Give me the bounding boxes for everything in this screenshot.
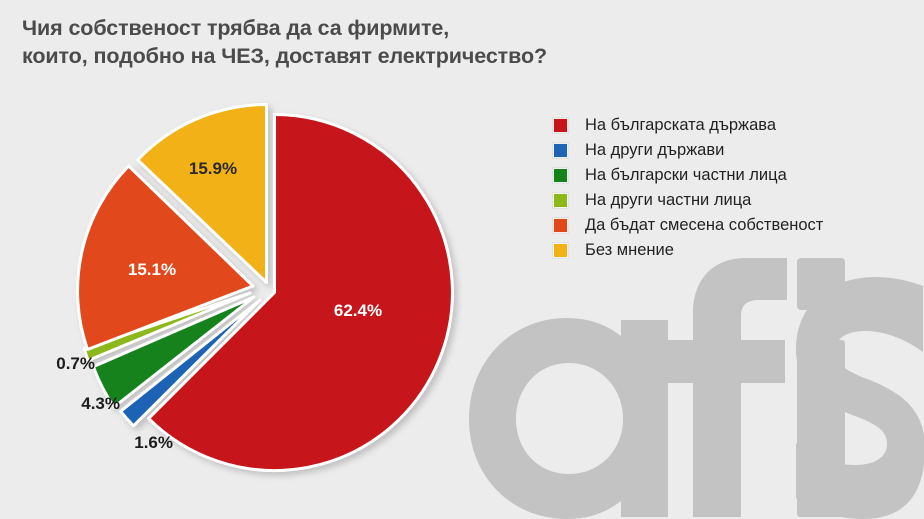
pie-label-green: 4.3% xyxy=(81,394,120,413)
chart-canvas: Чия собственост трябва да са фирмите, ко… xyxy=(0,0,924,519)
pie-label-red: 62.4% xyxy=(334,301,382,320)
legend-label-3: На други частни лица xyxy=(585,192,751,209)
pie-label-orange: 15.1% xyxy=(128,260,176,279)
pie-label-blue: 1.6% xyxy=(134,433,173,452)
pie-chart: 62.4% 15.9% 15.1% 0.7% 4.3% 1.6% xyxy=(0,60,520,519)
pie-label-yellow: 15.9% xyxy=(189,159,237,178)
legend-swatch-icon-2 xyxy=(553,168,568,183)
afis-watermark-logo xyxy=(455,258,924,519)
legend-label-1: На други държави xyxy=(585,142,724,159)
legend-label-5: Без мнение xyxy=(585,242,674,259)
legend-label-0: На българската държава xyxy=(585,117,776,134)
legend-item-2[interactable]: На български частни лица xyxy=(553,163,903,188)
legend-swatch-icon-1 xyxy=(553,143,568,158)
pie-label-lightgreen: 0.7% xyxy=(56,354,95,373)
legend-item-5[interactable]: Без мнение xyxy=(553,238,903,263)
legend-label-4: Да бъдат смесена собственост xyxy=(585,217,823,234)
legend-item-1[interactable]: На други държави xyxy=(553,138,903,163)
legend-label-2: На български частни лица xyxy=(585,167,787,184)
legend-swatch-icon-4 xyxy=(553,218,568,233)
legend-item-0[interactable]: На българската държава xyxy=(553,113,903,138)
legend-swatch-icon-0 xyxy=(553,118,568,133)
chart-legend: На българската държава На други държави … xyxy=(553,113,903,263)
legend-swatch-icon-3 xyxy=(553,193,568,208)
legend-item-3[interactable]: На други частни лица xyxy=(553,188,903,213)
legend-swatch-icon-5 xyxy=(553,243,568,258)
legend-item-4[interactable]: Да бъдат смесена собственост xyxy=(553,213,903,238)
